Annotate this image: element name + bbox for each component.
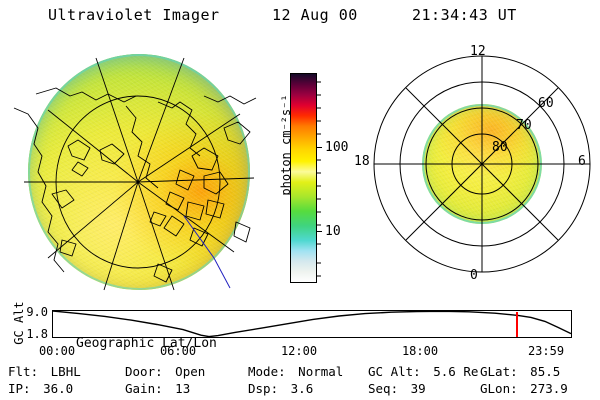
altitude-plot-box[interactable] [52, 310, 572, 338]
status-seq: Seq: 39 [368, 381, 426, 396]
altitude-timeline-plot[interactable]: GC Alt 9.0 1.8 [0, 306, 600, 342]
status-mode-value: Normal [298, 364, 343, 379]
status-door-value: Open [175, 364, 205, 379]
instrument-title: Ultraviolet Imager [48, 6, 220, 24]
status-gc-alt-key: GC Alt: [368, 364, 421, 379]
mlt-label-6: 6 [578, 154, 586, 169]
mlt-label-12: 12 [470, 44, 486, 59]
observation-time: 21:34:43 UT [412, 6, 517, 24]
status-seq-key: Seq: [368, 381, 398, 396]
colorbar-panel: photon cm⁻²s⁻¹ 100 10 [268, 50, 348, 295]
status-dsp: Dsp: 3.6 [248, 381, 313, 396]
status-glat: GLat: 85.5 [480, 364, 560, 379]
altitude-tick-high: 9.0 [18, 305, 48, 319]
status-dsp-value: 3.6 [291, 381, 314, 396]
status-seq-value: 39 [411, 381, 426, 396]
mlat-label-80: 80 [492, 140, 508, 155]
status-dsp-key: Dsp: [248, 381, 278, 396]
altitude-tick-low: 1.8 [18, 327, 48, 341]
graticule-overlay [24, 58, 254, 290]
mlat-label-70: 70 [516, 118, 532, 133]
time-tick-0000: 00:00 [39, 344, 75, 358]
colorbar-minor-ticks [316, 73, 323, 282]
header-bar: Ultraviolet Imager 12 Aug 00 21:34:43 UT [0, 6, 600, 30]
terminator-track-line [184, 216, 230, 288]
mlat-label-60: 60 [538, 96, 554, 111]
time-tick-1200: 12:00 [281, 344, 317, 358]
status-glon-key: GLon: [480, 381, 518, 396]
apex-polar-panel[interactable]: 12 6 0 18 60 70 80 Apex MLat/MLT [352, 42, 600, 294]
status-glat-key: GLat: [480, 364, 518, 379]
status-ip-value: 36.0 [43, 381, 73, 396]
status-glat-value: 85.5 [530, 364, 560, 379]
mlt-label-0: 0 [470, 268, 478, 283]
time-axis: 00:00 06:00 12:00 18:00 23:59 [0, 344, 600, 360]
status-mode-key: Mode: [248, 364, 286, 379]
colorbar-gradient [290, 73, 317, 283]
status-filter: Flt: LBHL [8, 364, 81, 379]
observation-date: 12 Aug 00 [272, 6, 358, 24]
altitude-curve [53, 311, 571, 337]
apex-grid-svg [352, 42, 600, 294]
uvi-display-window: Ultraviolet Imager 12 Aug 00 21:34:43 UT [0, 0, 600, 400]
altitude-curve-svg [53, 311, 571, 337]
colorbar-tick-label-10: 10 [325, 224, 341, 239]
time-tick-1800: 18:00 [402, 344, 438, 358]
status-gain-key: Gain: [125, 381, 163, 396]
status-glon: GLon: 273.9 [480, 381, 568, 396]
status-gain-value: 13 [175, 381, 190, 396]
status-ip-key: IP: [8, 381, 31, 396]
colorbar-tick-label-100: 100 [325, 140, 348, 155]
status-readout: Flt: LBHL Door: Open Mode: Normal GC Alt… [0, 364, 600, 398]
status-door: Door: Open [125, 364, 205, 379]
time-tick-0600: 06:00 [160, 344, 196, 358]
status-door-key: Door: [125, 364, 163, 379]
geographic-image-panel[interactable]: Geographic Lat/Lon [8, 44, 264, 294]
status-ip: IP: 36.0 [8, 381, 73, 396]
status-glon-value: 273.9 [530, 381, 568, 396]
time-tick-2359: 23:59 [528, 344, 564, 358]
status-gc-alt-value: 5.6 Re [433, 364, 478, 379]
current-time-marker [516, 312, 518, 338]
geographic-overlay-svg [8, 44, 264, 294]
status-gain: Gain: 13 [125, 381, 190, 396]
status-mode: Mode: Normal [248, 364, 343, 379]
mlt-label-18: 18 [354, 154, 370, 169]
status-filter-key: Flt: [8, 364, 38, 379]
status-gc-alt: GC Alt: 5.6 Re [368, 364, 478, 379]
status-filter-value: LBHL [51, 364, 81, 379]
